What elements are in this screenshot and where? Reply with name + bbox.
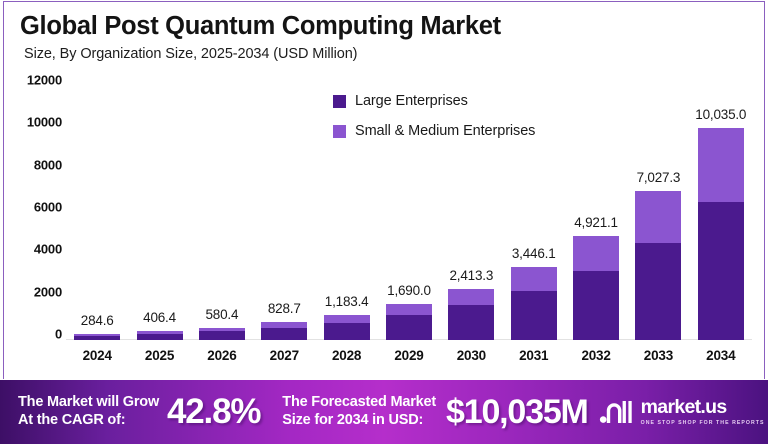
stacked-bar[interactable] [386, 304, 432, 340]
y-axis: 020004000600080001000012000 [6, 80, 62, 342]
x-axis-tick-label: 2026 [191, 348, 253, 363]
bar-group-2028[interactable]: 1,183.4 [315, 86, 377, 340]
x-axis-tick-label: 2032 [565, 348, 627, 363]
bar-group-2032[interactable]: 4,921.1 [565, 86, 627, 340]
stacked-bar[interactable] [137, 331, 183, 340]
infographic-card: Global Post Quantum Computing Market Siz… [0, 0, 768, 444]
x-axis-tick-label: 2034 [690, 348, 752, 363]
footer-banner: The Market will Grow At the CAGR of: 42.… [0, 380, 768, 444]
y-axis-tick-label: 0 [55, 327, 62, 342]
forecast-caption: The Forecasted Market Size for 2034 in U… [282, 394, 436, 429]
bar-segment-large-enterprises[interactable] [573, 271, 619, 340]
forecast-callout: The Forecasted Market Size for 2034 in U… [282, 393, 587, 432]
x-axis: 2024202520262027202820292030203120322033… [66, 348, 752, 363]
bar-segment-large-enterprises[interactable] [137, 334, 183, 340]
bar-segment-small-medium-enterprises[interactable] [324, 315, 370, 323]
bar-segment-small-medium-enterprises[interactable] [386, 304, 432, 315]
page-subtitle: Size, By Organization Size, 2025-2034 (U… [24, 46, 740, 62]
bar-segment-large-enterprises[interactable] [635, 243, 681, 340]
cagr-value: 42.8% [167, 392, 260, 432]
bar-group-2031[interactable]: 3,446.1 [503, 86, 565, 340]
bar-segment-large-enterprises[interactable] [199, 331, 245, 340]
bar-segment-large-enterprises[interactable] [698, 202, 744, 340]
bar-group-2026[interactable]: 580.4 [191, 86, 253, 340]
brand-text: market.us ONE STOP SHOP FOR THE REPORTS [641, 398, 765, 427]
stacked-bar[interactable] [74, 334, 120, 340]
bar-segment-small-medium-enterprises[interactable] [573, 236, 619, 271]
x-axis-tick-label: 2027 [253, 348, 315, 363]
bar-value-label: 3,446.1 [512, 246, 556, 261]
stacked-bar[interactable] [573, 236, 619, 340]
brand-name: market.us [641, 398, 765, 418]
x-axis-tick-label: 2030 [440, 348, 502, 363]
bar-segment-large-enterprises[interactable] [511, 291, 557, 340]
bar-segment-small-medium-enterprises[interactable] [698, 128, 744, 202]
bar-group-2027[interactable]: 828.7 [253, 86, 315, 340]
bar-group-2030[interactable]: 2,413.3 [440, 86, 502, 340]
bar-group-2033[interactable]: 7,027.3 [627, 86, 689, 340]
bar-value-label: 1,690.0 [387, 283, 431, 298]
plot-area: 284.6406.4580.4828.71,183.41,690.02,413.… [66, 86, 752, 340]
cagr-caption-line1: The Market will Grow [18, 394, 159, 412]
brand-tagline: ONE STOP SHOP FOR THE REPORTS [641, 420, 765, 426]
bar-segment-large-enterprises[interactable] [74, 336, 120, 340]
x-axis-tick-label: 2031 [503, 348, 565, 363]
x-axis-tick-label: 2028 [315, 348, 377, 363]
bar-value-label: 2,413.3 [450, 268, 494, 283]
chart-header: Global Post Quantum Computing Market Siz… [20, 12, 740, 62]
forecast-value: $10,035M [446, 393, 588, 432]
stacked-bar[interactable] [261, 322, 307, 340]
cagr-caption: The Market will Grow At the CAGR of: [18, 394, 159, 429]
bar-group-2034[interactable]: 10,035.0 [690, 86, 752, 340]
market-us-logo-icon [598, 399, 634, 425]
bar-segment-large-enterprises[interactable] [324, 323, 370, 340]
bar-value-label: 828.7 [268, 301, 301, 316]
stacked-bar[interactable] [324, 315, 370, 340]
x-axis-tick-label: 2033 [627, 348, 689, 363]
bar-value-label: 1,183.4 [325, 294, 369, 309]
bar-value-label: 7,027.3 [637, 170, 681, 185]
bar-value-label: 284.6 [81, 313, 114, 328]
bar-segment-large-enterprises[interactable] [261, 328, 307, 340]
bar-group-2025[interactable]: 406.4 [128, 86, 190, 340]
cagr-callout: The Market will Grow At the CAGR of: 42.… [18, 392, 260, 432]
stacked-bar[interactable] [511, 267, 557, 340]
x-axis-tick-label: 2024 [66, 348, 128, 363]
y-axis-tick-label: 2000 [34, 284, 62, 299]
bar-value-label: 4,921.1 [574, 215, 618, 230]
y-axis-tick-label: 10000 [27, 115, 62, 130]
forecast-caption-line2: Size for 2034 in USD: [282, 412, 436, 430]
stacked-bar[interactable] [635, 191, 681, 340]
bar-value-label: 406.4 [143, 310, 176, 325]
bar-value-label: 580.4 [205, 307, 238, 322]
bar-segment-small-medium-enterprises[interactable] [511, 267, 557, 291]
bar-series-container: 284.6406.4580.4828.71,183.41,690.02,413.… [66, 86, 752, 340]
y-axis-tick-label: 12000 [27, 73, 62, 88]
brand-logo: market.us ONE STOP SHOP FOR THE REPORTS [598, 398, 765, 427]
y-axis-tick-label: 4000 [34, 242, 62, 257]
bar-group-2024[interactable]: 284.6 [66, 86, 128, 340]
bar-segment-small-medium-enterprises[interactable] [635, 191, 681, 243]
stacked-bar[interactable] [199, 328, 245, 340]
bar-segment-large-enterprises[interactable] [448, 305, 494, 340]
bar-segment-small-medium-enterprises[interactable] [448, 289, 494, 305]
y-axis-tick-label: 6000 [34, 200, 62, 215]
stacked-bar[interactable] [448, 289, 494, 340]
bar-segment-large-enterprises[interactable] [386, 315, 432, 340]
bar-group-2029[interactable]: 1,690.0 [378, 86, 440, 340]
page-title: Global Post Quantum Computing Market [20, 12, 740, 40]
y-axis-tick-label: 8000 [34, 157, 62, 172]
cagr-caption-line2: At the CAGR of: [18, 412, 159, 430]
x-axis-tick-label: 2025 [128, 348, 190, 363]
bar-value-label: 10,035.0 [695, 107, 746, 122]
forecast-caption-line1: The Forecasted Market [282, 394, 436, 412]
x-axis-tick-label: 2029 [378, 348, 440, 363]
stacked-bar[interactable] [698, 128, 744, 340]
